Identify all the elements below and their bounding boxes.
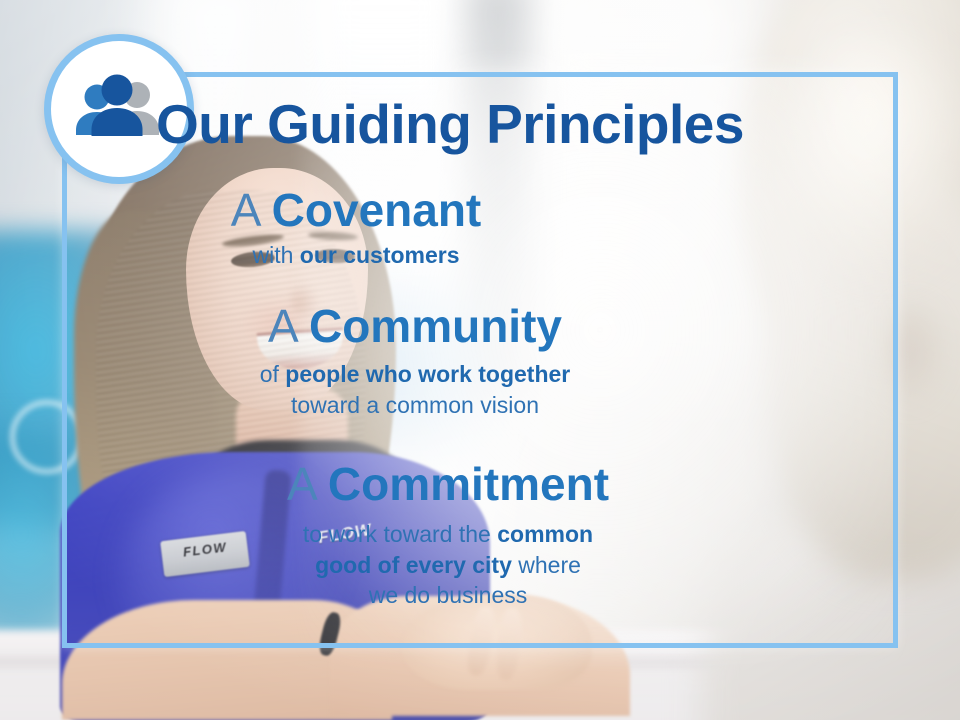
principle-3-sub-line2-tail: where: [512, 552, 581, 578]
principle-3-article: A: [287, 458, 315, 510]
principle-2-sub-line3: toward a common vision: [291, 392, 539, 418]
principle-1-heading: A Covenant: [0, 186, 712, 235]
principle-2-heading: A Community: [0, 302, 830, 351]
principle-3-subtext: to work toward the common good of every …: [0, 519, 896, 611]
principle-2-keyword: Community: [309, 300, 562, 352]
principle-2-subtext: of people who work together toward a com…: [0, 359, 830, 421]
principle-1-sub-bold: our customers: [300, 242, 460, 268]
principle-3-heading: A Commitment: [0, 460, 896, 509]
principle-1-keyword: Covenant: [272, 184, 482, 236]
principle-1-article: A: [231, 184, 259, 236]
principle-3-sub-line2-bold: good of every city: [315, 552, 512, 578]
guiding-principles-graphic: FLOW FLOW Our Guid: [0, 0, 960, 720]
principle-2-sub-bold: people who work together: [285, 361, 570, 387]
principle-commitment: A Commitment to work toward the common g…: [0, 460, 896, 611]
principle-2-sub-lead: of: [260, 361, 286, 387]
principle-3-sub-bold: common: [497, 521, 593, 547]
page-title: Our Guiding Principles: [0, 96, 900, 154]
principle-2-article: A: [268, 300, 296, 352]
principle-3-keyword: Commitment: [328, 458, 609, 510]
principle-community: A Community of people who work together …: [0, 302, 830, 420]
principle-1-sub-lead: with: [252, 242, 299, 268]
principle-1-subtext: with our customers: [0, 240, 712, 271]
principle-3-sub-lead: to work toward the: [303, 521, 497, 547]
principle-covenant: A Covenant with our customers: [0, 186, 712, 271]
principle-3-sub-line3: we do business: [369, 582, 528, 608]
